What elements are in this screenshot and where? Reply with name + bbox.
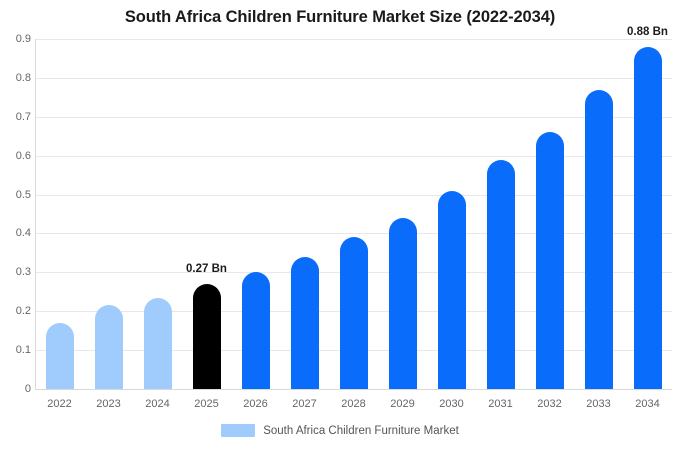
bar[interactable] xyxy=(242,272,270,389)
x-axis-tick-label: 2022 xyxy=(47,398,71,410)
legend-item-label: South Africa Children Furniture Market xyxy=(263,425,459,437)
y-axis-tick-labels: 0.90.80.70.60.50.40.30.20.10 xyxy=(0,0,31,450)
x-axis-tick-label: 2033 xyxy=(586,398,610,410)
y-axis-tick-label: 0.1 xyxy=(1,344,31,356)
y-axis-tick-label: 0.5 xyxy=(1,189,31,201)
bar[interactable] xyxy=(585,90,613,389)
y-axis-tick-label: 0.4 xyxy=(1,227,31,239)
bar[interactable] xyxy=(634,47,662,389)
x-axis-tick-label: 2028 xyxy=(341,398,365,410)
y-axis-tick-label: 0.7 xyxy=(1,111,31,123)
y-axis-tick-label: 0.6 xyxy=(1,150,31,162)
x-axis-tick-label: 2032 xyxy=(537,398,561,410)
x-axis-tick-label: 2031 xyxy=(488,398,512,410)
bar-value-label: 0.27 Bn xyxy=(186,263,227,275)
y-axis-tick-label: 0.3 xyxy=(1,266,31,278)
bar[interactable] xyxy=(95,305,123,389)
y-axis-tick-label: 0.9 xyxy=(1,33,31,45)
bar-chart: South Africa Children Furniture Market S… xyxy=(0,0,680,450)
x-axis-tick-label: 2027 xyxy=(292,398,316,410)
x-axis-tick-label: 2025 xyxy=(194,398,218,410)
bar[interactable] xyxy=(536,132,564,389)
bar[interactable] xyxy=(291,257,319,389)
legend-swatch-icon xyxy=(221,424,255,437)
y-axis-tick-label: 0 xyxy=(1,383,31,395)
chart-legend: South Africa Children Furniture Market xyxy=(0,424,680,437)
x-axis-tick-label: 2030 xyxy=(439,398,463,410)
bar[interactable] xyxy=(438,191,466,389)
bar[interactable] xyxy=(144,298,172,389)
x-axis-tick-label: 2029 xyxy=(390,398,414,410)
x-axis-tick-label: 2023 xyxy=(96,398,120,410)
x-axis-tick-label: 2026 xyxy=(243,398,267,410)
x-axis-tick-label: 2034 xyxy=(635,398,659,410)
bar[interactable] xyxy=(46,323,74,389)
bar-value-label: 0.88 Bn xyxy=(627,26,668,38)
bar[interactable] xyxy=(193,284,221,389)
x-axis-tick-label: 2024 xyxy=(145,398,169,410)
bar[interactable] xyxy=(487,160,515,389)
bar[interactable] xyxy=(340,237,368,389)
bars-layer xyxy=(35,0,672,450)
y-axis-tick-label: 0.2 xyxy=(1,305,31,317)
bar[interactable] xyxy=(389,218,417,389)
y-axis-tick-label: 0.8 xyxy=(1,72,31,84)
